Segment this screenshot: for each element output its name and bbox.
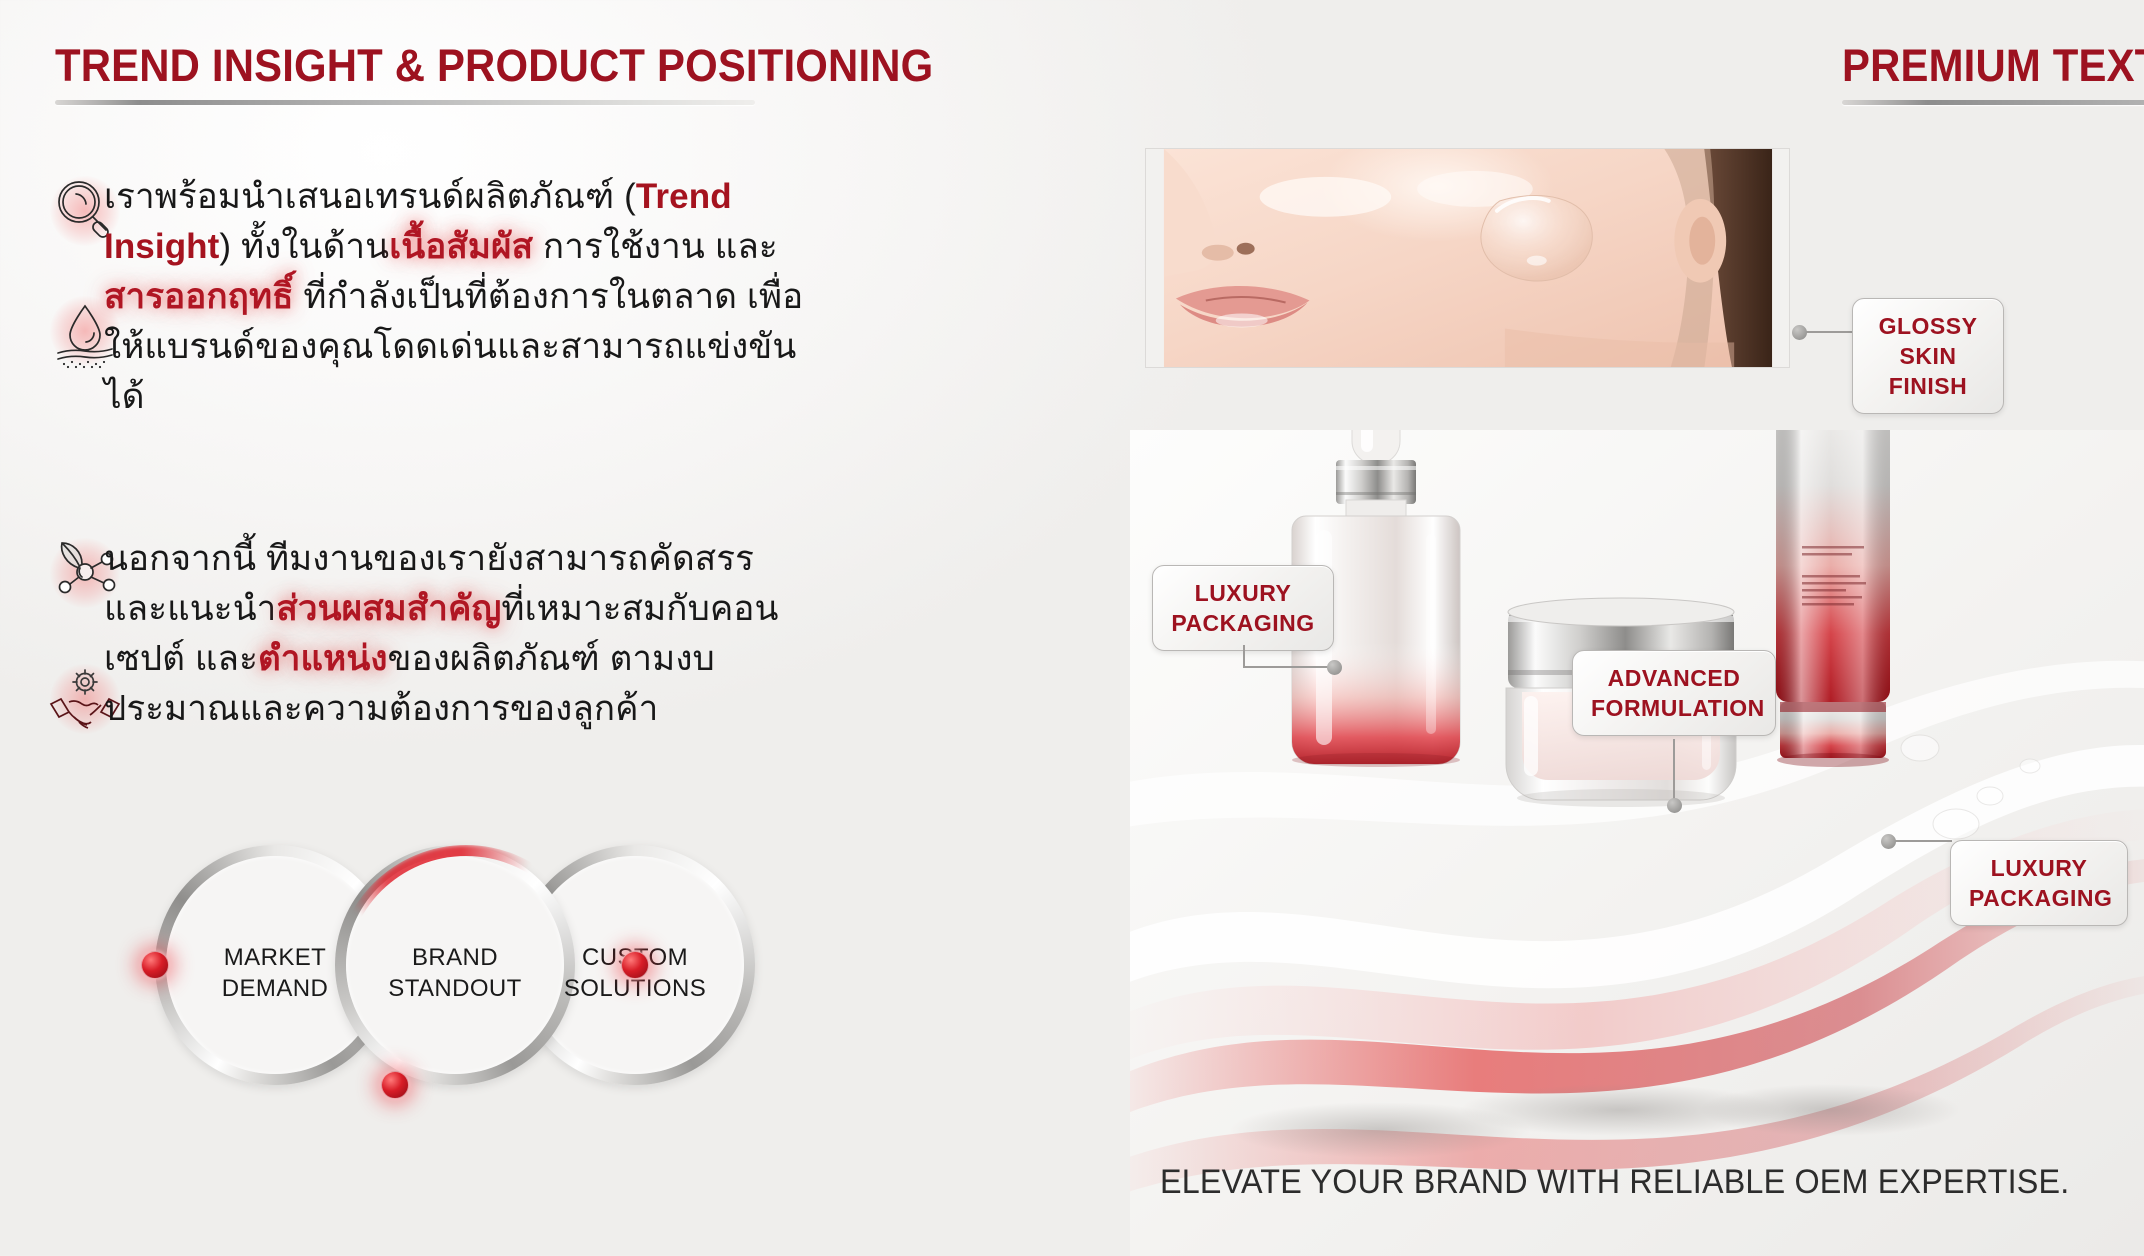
right-panel-heading: PREMIUM TEXTURE & VISUALS [1842, 40, 2144, 92]
ring-bead-bottom [381, 1071, 409, 1099]
callout-advanced-formulation[interactable]: ADVANCED FORMULATION [1572, 650, 1776, 736]
right-heading-rule [1842, 100, 2144, 105]
tagline: ELEVATE YOUR BRAND WITH RELIABLE OEM EXP… [1160, 1163, 2069, 1202]
rings-diagram: MARKET DEMAND BRAND STANDOUT CUSTOM SOLU… [155, 845, 795, 1125]
left-column: TREND INSIGHT & PRODUCT POSITIONING [0, 0, 1130, 1256]
leader-line-glossy-skin [1802, 331, 1856, 333]
left-panel-heading: TREND INSIGHT & PRODUCT POSITIONING [55, 40, 933, 92]
model-skin-photo [1145, 148, 1790, 368]
leader-dot-luxury-dropper [1327, 660, 1342, 675]
p1-highlight-texture: เนื้อสัมผัส [389, 227, 533, 266]
ring-bead-right [621, 951, 649, 979]
paragraph-ingredient-selection: นอกจากนี้ ทีมงานของเรายังสามารถคัดสรรและ… [104, 534, 804, 734]
leader-line-luxury-dropper-h [1243, 666, 1329, 668]
p1-highlight-active-ingredients: สารออกฤทธิ์ [104, 277, 294, 316]
ring-label-market-demand: MARKET DEMAND [180, 942, 370, 1004]
leader-line-advanced-formulation [1673, 739, 1675, 801]
leader-dot-advanced-formulation [1667, 798, 1682, 813]
leader-line-luxury-dropper-v [1243, 645, 1245, 667]
callout-luxury-packaging-dropper[interactable]: LUXURY PACKAGING [1152, 565, 1334, 651]
squeeze-tube [1776, 430, 1890, 767]
leader-dot-glossy-skin [1792, 325, 1807, 340]
p1-seg2: ) ทั้งในด้าน [219, 227, 389, 266]
p1-seg3: การใช้งาน และ [533, 227, 778, 266]
ring-bead-left [141, 951, 169, 979]
p2-highlight-key-ingredients: ส่วนผสมสำคัญ [276, 589, 501, 628]
skin-closeup-illustration [1146, 149, 1789, 368]
callout-luxury-packaging-tube[interactable]: LUXURY PACKAGING [1950, 840, 2128, 926]
paragraph-trend-insight: เราพร้อมนำเสนอเทรนด์ผลิตภัณฑ์ (Trend Ins… [104, 172, 804, 422]
left-heading-rule [55, 100, 755, 105]
leader-line-luxury-tube [1890, 840, 1952, 842]
callout-glossy-skin-finish[interactable]: GLOSSY SKIN FINISH [1852, 298, 2004, 414]
p1-seg1: เราพร้อมนำเสนอเทรนด์ผลิตภัณฑ์ ( [104, 177, 636, 216]
leader-dot-luxury-tube [1881, 834, 1896, 849]
ring-label-brand-standout: BRAND STANDOUT [360, 942, 550, 1004]
p2-highlight-positioning: ตำแหน่ง [258, 639, 388, 678]
